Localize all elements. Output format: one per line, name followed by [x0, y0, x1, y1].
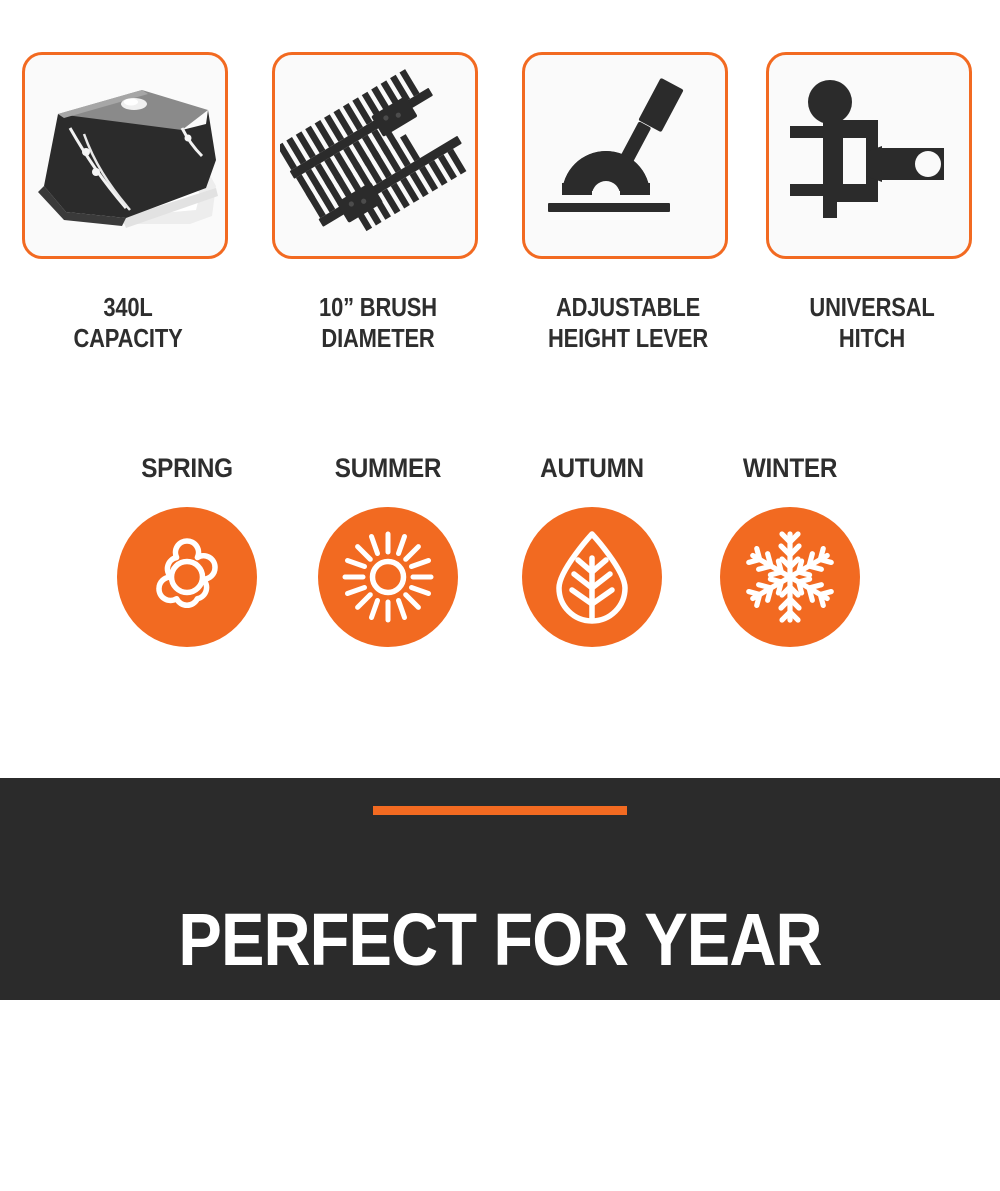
season-icon-circle — [522, 507, 662, 647]
flower-icon — [141, 531, 233, 623]
feature-label: UNIVERSAL HITCH — [781, 293, 963, 355]
feature-icon-box — [766, 52, 972, 259]
season-item-spring: SPRING — [87, 455, 287, 647]
brush-strips-icon — [280, 61, 470, 251]
season-item-winter: WINTER — [690, 455, 890, 647]
footer-heading-line-1: PERFECT FOR YEAR — [60, 904, 940, 976]
feature-highlights-section: 340L CAPACITY — [0, 0, 1000, 380]
accent-divider-bar — [373, 806, 627, 815]
sun-icon — [339, 528, 437, 626]
feature-item-capacity: 340L CAPACITY — [22, 52, 234, 355]
footer-heading: PERFECT FOR YEAR ROUND USE — [0, 832, 1000, 1191]
feature-icon-box — [522, 52, 728, 259]
footer-heading-line-2: ROUND USE — [60, 1047, 940, 1119]
feature-label: 340L CAPACITY — [37, 293, 219, 355]
feature-label: 10” BRUSH DIAMETER — [287, 293, 469, 355]
feature-item-brush-diameter: 10” BRUSH DIAMETER — [272, 52, 484, 355]
season-label: AUTUMN — [502, 455, 682, 485]
season-item-autumn: AUTUMN — [492, 455, 692, 647]
feature-icon-box — [22, 52, 228, 259]
feature-icon-box — [272, 52, 478, 259]
feature-item-height-lever: ADJUSTABLE HEIGHT LEVER — [522, 52, 734, 355]
season-icon-circle — [117, 507, 257, 647]
season-label: SUMMER — [298, 455, 478, 485]
season-icon-circle — [318, 507, 458, 647]
grass-catcher-bag-icon — [30, 68, 220, 243]
tow-hitch-icon — [782, 76, 957, 236]
feature-label: ADJUSTABLE HEIGHT LEVER — [537, 293, 719, 355]
footer-banner: PERFECT FOR YEAR ROUND USE — [0, 778, 1000, 1000]
season-icon-circle — [720, 507, 860, 647]
snowflake-icon — [742, 529, 838, 625]
leaf-icon — [549, 528, 635, 626]
season-label: WINTER — [700, 455, 880, 485]
season-item-summer: SUMMER — [288, 455, 488, 647]
season-label: SPRING — [97, 455, 277, 485]
seasons-section: SPRING SUMMER — [0, 455, 1000, 695]
feature-item-universal-hitch: UNIVERSAL HITCH — [766, 52, 978, 355]
adjustable-lever-icon — [540, 73, 710, 238]
